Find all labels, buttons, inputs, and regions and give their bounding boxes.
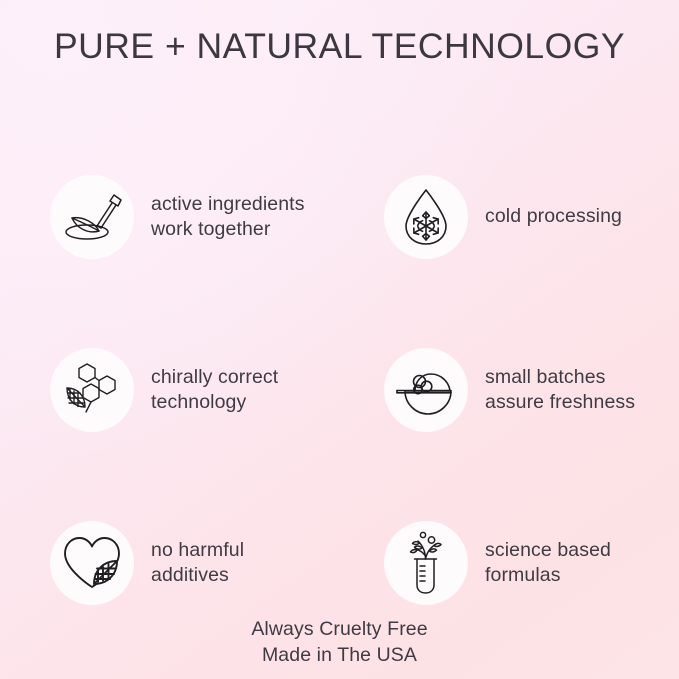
feature-item-small-batches: small batches assure freshness [337,303,679,476]
footer-text: Always Cruelty Free Made in The USA [0,617,679,668]
feature-row: active ingredients work together [0,130,679,303]
feature-row: chirally correct technology [0,303,679,476]
feature-label: no harmful additives [151,538,244,588]
molecule-leaf-icon [50,348,134,432]
heart-leaf-icon [50,521,134,605]
feature-label: chirally correct technology [151,365,278,415]
mortar-bowl-ingredients-icon [384,348,468,432]
feature-label: cold processing [485,204,622,229]
feature-label: science based formulas [485,538,611,588]
feature-label: small batches assure freshness [485,365,635,415]
feature-item-cold-processing: cold processing [337,130,679,303]
feature-item-chirally-correct: chirally correct technology [0,303,337,476]
page-title: PURE + NATURAL TECHNOLOGY [0,26,679,67]
infographic-panel: PURE + NATURAL TECHNOLOGY [0,0,679,679]
feature-item-active-ingredients: active ingredients work together [0,130,337,303]
feature-grid: active ingredients work together [0,130,679,649]
feature-label: active ingredients work together [151,192,305,242]
droplet-snowflake-icon [384,175,468,259]
test-tube-plant-icon [384,521,468,605]
dropper-leaf-dish-icon [50,175,134,259]
